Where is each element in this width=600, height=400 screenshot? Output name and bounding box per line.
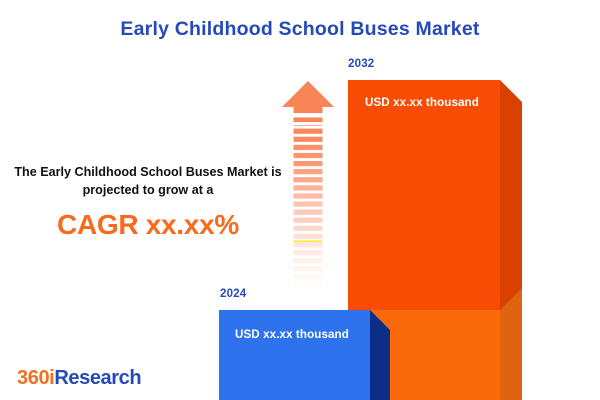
bar-value-2032: USD xx.xx thousand [365,96,479,109]
growth-arrow-icon [281,80,335,292]
logo-text-360: 360 [17,367,49,389]
bar-label-2032: 2032 [348,58,374,70]
infographic-canvas: Early Childhood School Buses Market The … [0,0,600,400]
bar-2024 [219,310,390,400]
bar-value-2024: USD xx.xx thousand [235,328,349,341]
cagr-value-text: CAGR xx.xx% [14,209,282,241]
bar-label-2024: 2024 [220,288,246,300]
brand-logo[interactable]: 360iResearch [17,367,141,390]
cagr-annotation-block: The Early Childhood School Buses Market … [14,163,282,241]
cagr-statement-text: The Early Childhood School Buses Market … [14,163,282,200]
page-title: Early Childhood School Buses Market [0,18,600,41]
logo-text-research: Research [54,367,141,389]
